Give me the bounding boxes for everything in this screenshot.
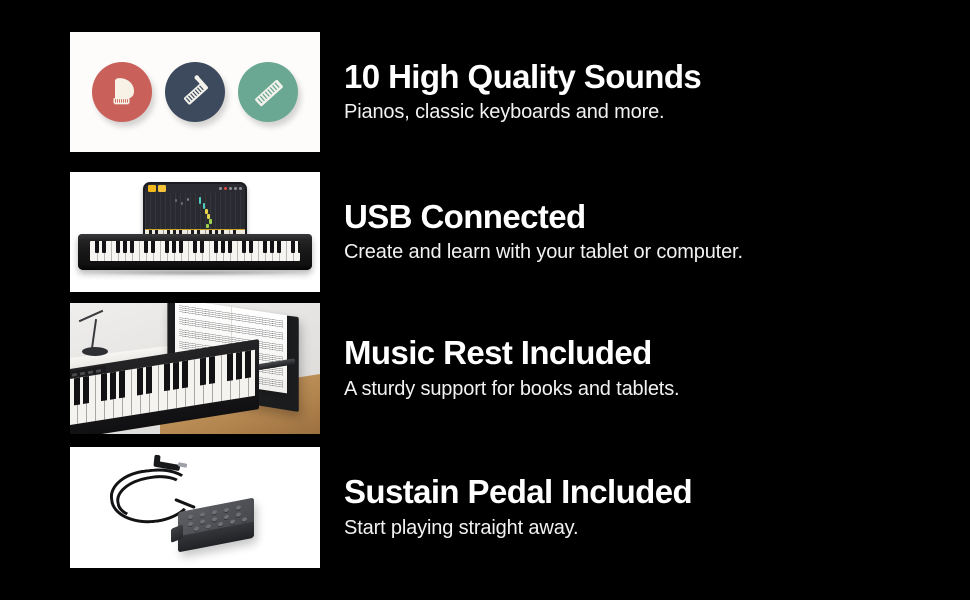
- sustain-pedal-scene: [70, 447, 320, 568]
- grand-piano-icon: [105, 77, 139, 107]
- note-block: [187, 198, 189, 201]
- feature-subtitle: Create and learn with your tablet or com…: [344, 240, 960, 264]
- app-button-yellow-1: [148, 185, 156, 192]
- feature-row-sustain-pedal: Sustain Pedal Included Start playing str…: [0, 447, 970, 568]
- toolbar-dot-4: [239, 187, 242, 190]
- digital-piano: [78, 234, 312, 270]
- usb-tablet-piano-image: [70, 172, 320, 292]
- piano-base: [78, 263, 312, 270]
- keytar-icon: [177, 74, 213, 110]
- feature-title: Sustain Pedal Included: [344, 475, 960, 510]
- piano-keys: [90, 241, 300, 261]
- feature-copy-music-rest: Music Rest Included A sturdy support for…: [344, 303, 960, 434]
- feature-copy-sustain-pedal: Sustain Pedal Included Start playing str…: [344, 447, 960, 568]
- feature-subtitle: A sturdy support for books and tablets.: [344, 377, 960, 401]
- music-rest-scene: [70, 303, 320, 434]
- toolbar-dot-3: [234, 187, 237, 190]
- note-block: [206, 224, 209, 228]
- feature-row-sounds: 10 High Quality Sounds Pianos, classic k…: [0, 32, 970, 152]
- feature-subtitle: Pianos, classic keyboards and more.: [344, 100, 960, 124]
- toolbar-dot-2: [229, 187, 232, 190]
- keytar-badge: [165, 62, 225, 122]
- toolbar-dot-1: [219, 187, 222, 190]
- lamp-base: [82, 347, 108, 356]
- app-button-yellow-2: [158, 185, 166, 192]
- feature-subtitle: Start playing straight away.: [344, 516, 960, 540]
- record-dot-icon: [224, 187, 227, 190]
- note-block: [181, 202, 183, 205]
- sustain-pedal-image: [70, 447, 320, 568]
- badge-group: [70, 32, 320, 152]
- keyboard-icon: [250, 74, 286, 110]
- feature-row-usb: USB Connected Create and learn with your…: [0, 172, 970, 292]
- feature-title: 10 High Quality Sounds: [344, 60, 960, 95]
- note-block: [209, 219, 212, 224]
- feature-row-music-rest: Music Rest Included A sturdy support for…: [0, 303, 970, 434]
- feature-board: 10 High Quality Sounds Pianos, classic k…: [0, 0, 970, 600]
- piano-roll-grid: [145, 193, 245, 230]
- usb-scene: [70, 172, 320, 292]
- tablet-app-toolbar: [145, 184, 245, 193]
- feature-copy-sounds: 10 High Quality Sounds Pianos, classic k…: [344, 32, 960, 152]
- note-block: [175, 199, 177, 202]
- note-block: [199, 197, 201, 204]
- feature-title: Music Rest Included: [344, 336, 960, 371]
- grand-piano-badge: [92, 62, 152, 122]
- keyboard-badge: [238, 62, 298, 122]
- piano-shadow: [84, 270, 306, 276]
- feature-title: USB Connected: [344, 200, 960, 235]
- piano-top-panel: [78, 234, 312, 241]
- instrument-badges-image: [70, 32, 320, 152]
- feature-copy-usb: USB Connected Create and learn with your…: [344, 172, 960, 292]
- music-rest-image: [70, 303, 320, 434]
